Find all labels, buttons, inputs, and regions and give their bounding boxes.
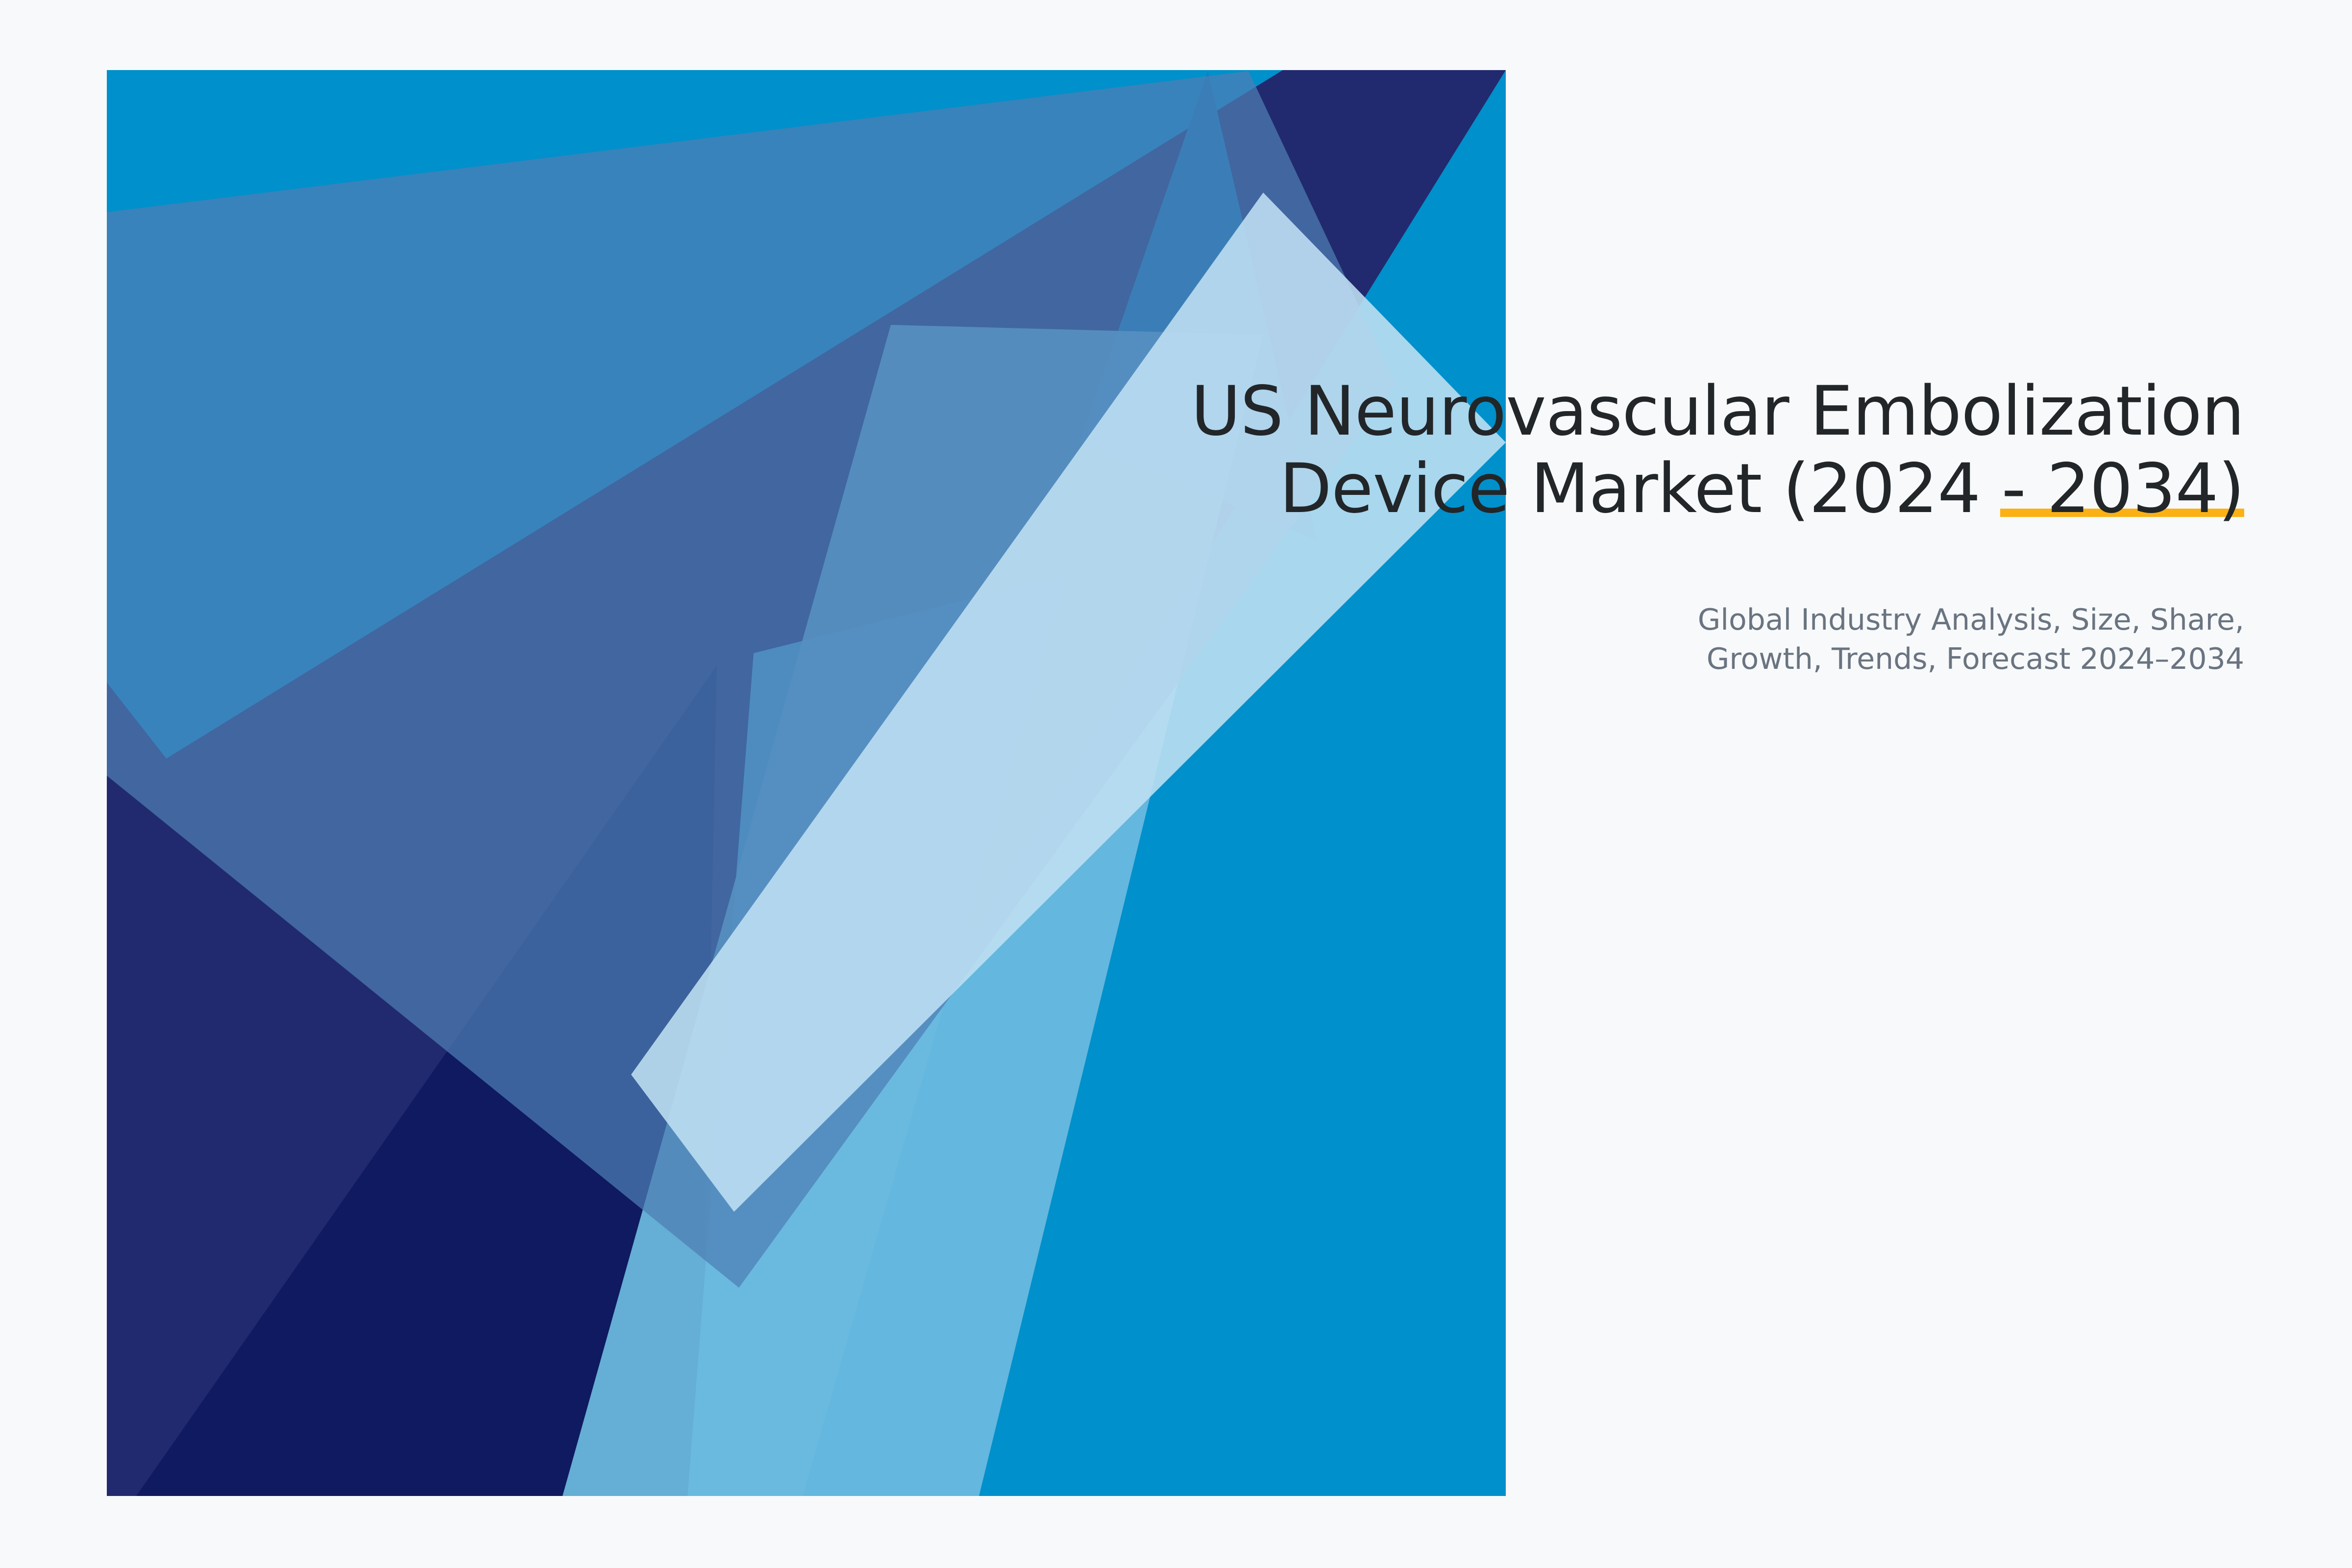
cover-text-block: US Neurovascular Embolization Device Mar… <box>1029 372 2244 679</box>
report-cover-page: US Neurovascular Embolization Device Mar… <box>0 0 2352 1568</box>
page-subtitle: Global Industry Analysis, Size, Share, G… <box>1029 600 2244 679</box>
page-title: US Neurovascular Embolization Device Mar… <box>1029 372 2244 528</box>
title-wrapper: US Neurovascular Embolization Device Mar… <box>1029 372 2244 528</box>
abstract-polygon-graphic <box>107 70 1506 1496</box>
